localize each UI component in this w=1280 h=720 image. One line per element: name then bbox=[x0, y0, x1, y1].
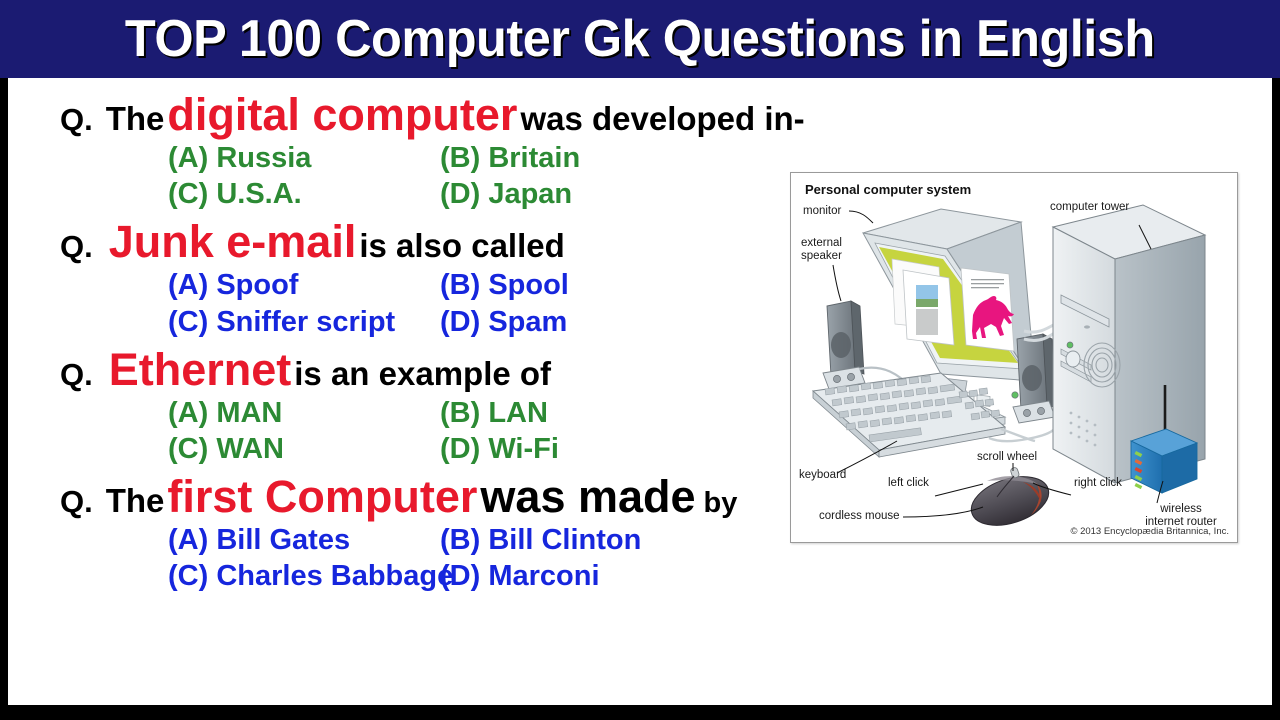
question-segment: is also called bbox=[359, 229, 564, 263]
page-root: TOP 100 Computer Gk Questions in English… bbox=[0, 0, 1280, 720]
option-d[interactable]: (D) Marconi bbox=[440, 558, 790, 594]
wireless-router-label-line1: wireless bbox=[1160, 503, 1202, 515]
left-click-label: left click bbox=[888, 477, 929, 490]
question-highlight: Junk e-mail bbox=[106, 219, 360, 265]
copyright-notice: © 2013 Encyclopædia Britannica, Inc. bbox=[1070, 526, 1229, 537]
computer-tower-label: computer tower bbox=[1050, 201, 1129, 214]
question-marker: Q. bbox=[60, 486, 93, 518]
content-sheet: Q. The digital computer was developed in… bbox=[8, 78, 1272, 705]
diagram-title: Personal computer system bbox=[805, 182, 971, 197]
question-line: Q. Ethernet is an example of bbox=[60, 347, 790, 393]
option-a[interactable]: (A) Spoof bbox=[168, 267, 440, 303]
question-block-1: Q. The digital computer was developed in… bbox=[60, 92, 790, 212]
option-b[interactable]: (B) Spool bbox=[440, 267, 790, 303]
question-highlight: first Computer bbox=[164, 474, 480, 520]
question-block-3: Q. Ethernet is an example of (A) MAN (B)… bbox=[60, 347, 790, 467]
questions-list: Q. The digital computer was developed in… bbox=[60, 92, 790, 602]
external-speaker-label-line2: speaker bbox=[801, 250, 842, 262]
question-line: Q. The first Computer was made by bbox=[60, 474, 790, 520]
keyboard-label: keyboard bbox=[799, 469, 846, 482]
options-grid: (A) Russia (B) Britain (C) U.S.A. (D) Ja… bbox=[168, 140, 790, 213]
question-marker: Q. bbox=[60, 231, 93, 263]
question-segment: The bbox=[106, 102, 165, 136]
monitor-label: monitor bbox=[803, 205, 841, 218]
option-a[interactable]: (A) MAN bbox=[168, 395, 440, 431]
question-line: Q. Junk e-mail is also called bbox=[60, 219, 790, 265]
title-banner: TOP 100 Computer Gk Questions in English bbox=[0, 0, 1280, 78]
option-a[interactable]: (A) Russia bbox=[168, 140, 440, 176]
external-speaker-label: external speaker bbox=[801, 237, 842, 263]
scroll-wheel-label: scroll wheel bbox=[977, 451, 1037, 464]
option-c[interactable]: (C) U.S.A. bbox=[168, 176, 440, 212]
options-grid: (A) Spoof (B) Spool (C) Sniffer script (… bbox=[168, 267, 790, 340]
diagram-illustration bbox=[791, 173, 1237, 542]
question-segment: The bbox=[106, 484, 165, 518]
question-marker: Q. bbox=[60, 359, 93, 391]
question-highlight: digital computer bbox=[164, 92, 520, 138]
question-highlight: Ethernet bbox=[106, 347, 295, 393]
question-segment: is an example of bbox=[294, 357, 551, 391]
right-click-label: right click bbox=[1074, 477, 1122, 490]
question-line: Q. The digital computer was developed in… bbox=[60, 92, 790, 138]
page-title: TOP 100 Computer Gk Questions in English bbox=[125, 13, 1155, 65]
option-d[interactable]: (D) Wi-Fi bbox=[440, 431, 790, 467]
option-b[interactable]: (B) Britain bbox=[440, 140, 790, 176]
question-segment: was developed in- bbox=[520, 102, 804, 136]
option-c[interactable]: (C) WAN bbox=[168, 431, 440, 467]
cordless-mouse-label: cordless mouse bbox=[819, 510, 900, 523]
question-block-4: Q. The first Computer was made by (A) Bi… bbox=[60, 474, 790, 594]
options-grid: (A) MAN (B) LAN (C) WAN (D) Wi-Fi bbox=[168, 395, 790, 468]
option-c[interactable]: (C) Sniffer script bbox=[168, 304, 440, 340]
external-speaker-label-line1: external bbox=[801, 237, 842, 249]
question-segment: was made bbox=[480, 474, 695, 520]
option-c[interactable]: (C) Charles Babbage bbox=[168, 558, 440, 594]
option-d[interactable]: (D) Spam bbox=[440, 304, 790, 340]
personal-computer-diagram: Personal computer system monitor externa… bbox=[790, 172, 1238, 543]
option-b[interactable]: (B) LAN bbox=[440, 395, 790, 431]
option-b[interactable]: (B) Bill Clinton bbox=[440, 522, 790, 558]
options-grid: (A) Bill Gates (B) Bill Clinton (C) Char… bbox=[168, 522, 790, 595]
option-a[interactable]: (A) Bill Gates bbox=[168, 522, 440, 558]
question-block-2: Q. Junk e-mail is also called (A) Spoof … bbox=[60, 219, 790, 339]
question-segment: by bbox=[704, 489, 738, 519]
option-d[interactable]: (D) Japan bbox=[440, 176, 790, 212]
question-marker: Q. bbox=[60, 104, 93, 136]
